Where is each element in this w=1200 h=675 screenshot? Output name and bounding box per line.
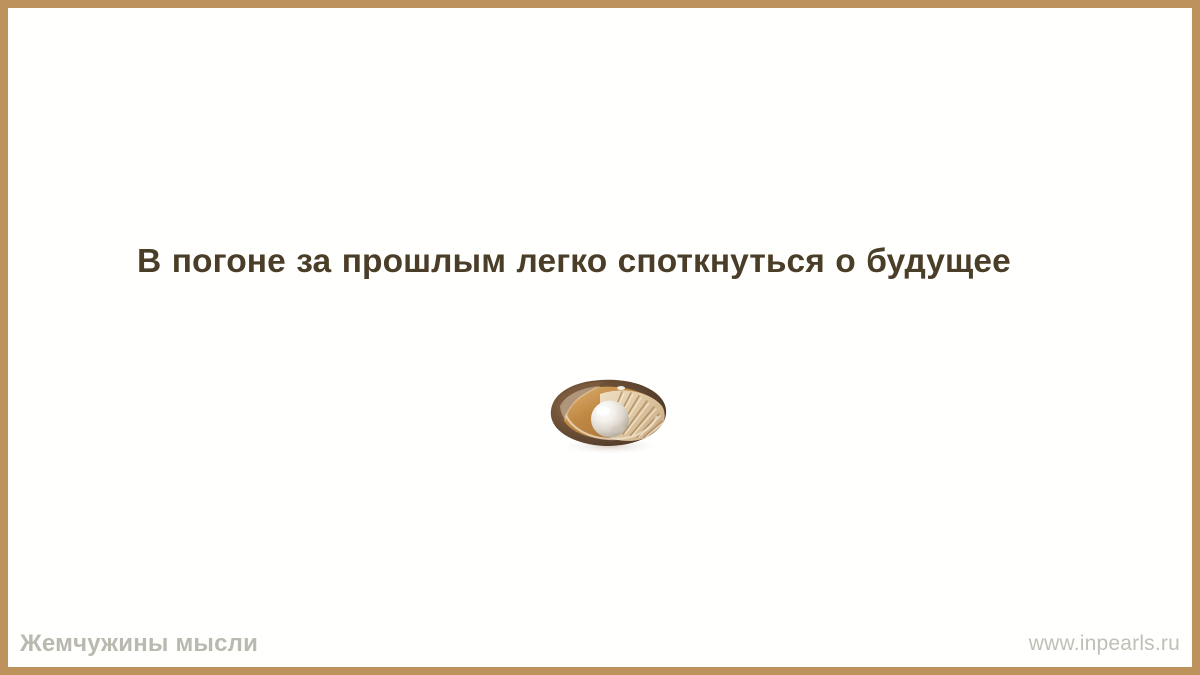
footer-brand: Жемчужины мысли xyxy=(20,630,258,658)
card-canvas: В погоне за прошлым легко споткнуться о … xyxy=(8,8,1192,667)
oyster-shell-svg xyxy=(538,366,678,458)
footer: Жемчужины мысли www.inpearls.ru xyxy=(8,620,1192,668)
quote-card: В погоне за прошлым легко споткнуться о … xyxy=(0,0,1200,675)
footer-site-url[interactable]: www.inpearls.ru xyxy=(1029,632,1180,656)
quote-block: В погоне за прошлым легко споткнуться о … xyxy=(137,240,1087,284)
quote-text: В погоне за прошлым легко споткнуться о … xyxy=(137,240,1087,284)
pearl xyxy=(591,401,629,438)
oyster-shell-with-pearl-icon xyxy=(538,366,678,458)
shell-specular-fleck xyxy=(617,386,625,390)
